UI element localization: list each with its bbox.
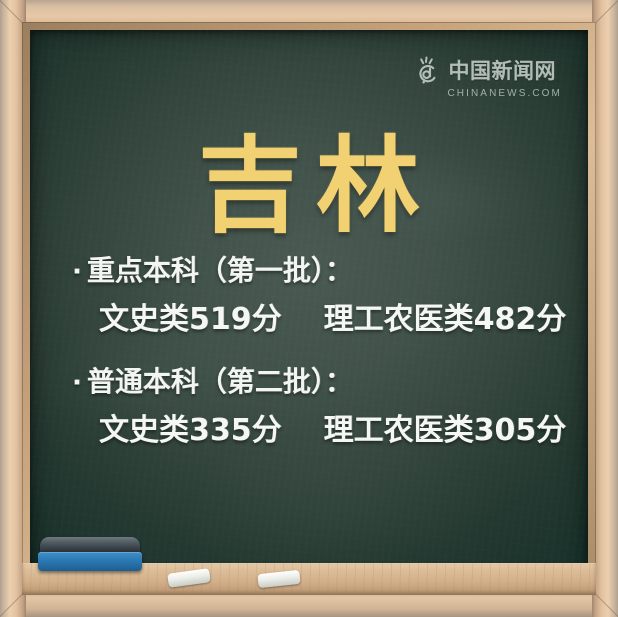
score-liberal-arts: 文史类519分 xyxy=(99,295,282,345)
score-liberal-arts: 文史类335分 xyxy=(99,406,282,456)
watermark-logo-row: 中国新闻网 xyxy=(413,56,556,86)
watermark-brand: 中国新闻网 xyxy=(448,61,556,82)
blackboard-eraser xyxy=(38,537,142,571)
score-science: 理工农医类305分 xyxy=(324,406,567,456)
at-sign-burst-icon xyxy=(413,56,443,86)
score-block-first-batch: · 重点本科（第一批）： 文史类519分 理工农医类482分 xyxy=(72,248,564,345)
score-block-heading-row: · 普通本科（第二批）： xyxy=(72,359,564,406)
eraser-plastic-base xyxy=(38,552,142,571)
page-title: 吉林 xyxy=(30,134,588,238)
score-values-row: 文史类335分 理工农医类305分 xyxy=(72,406,564,456)
watermark-domain: CHINANEWS.COM xyxy=(447,88,562,100)
chalkboard-surface: 中国新闻网 CHINANEWS.COM 吉林 · 重点本科（第一批）： 文史类5… xyxy=(30,30,588,592)
score-values-row: 文史类519分 理工农医类482分 xyxy=(72,295,564,345)
score-block-heading: 普通本科（第二批）： xyxy=(87,359,353,405)
watermark: 中国新闻网 CHINANEWS.COM xyxy=(413,56,562,100)
bullet-icon: · xyxy=(72,249,82,295)
score-list: · 重点本科（第一批）： 文史类519分 理工农医类482分 · 普通本科（第二… xyxy=(72,248,564,470)
chalkboard-poster: 中国新闻网 CHINANEWS.COM 吉林 · 重点本科（第一批）： 文史类5… xyxy=(0,0,618,617)
score-block-heading-row: · 重点本科（第一批）： xyxy=(72,248,564,295)
score-block-heading: 重点本科（第一批）： xyxy=(87,248,353,294)
bullet-icon: · xyxy=(72,360,82,406)
score-block-second-batch: · 普通本科（第二批）： 文史类335分 理工农医类305分 xyxy=(72,359,564,456)
score-science: 理工农医类482分 xyxy=(324,295,567,345)
